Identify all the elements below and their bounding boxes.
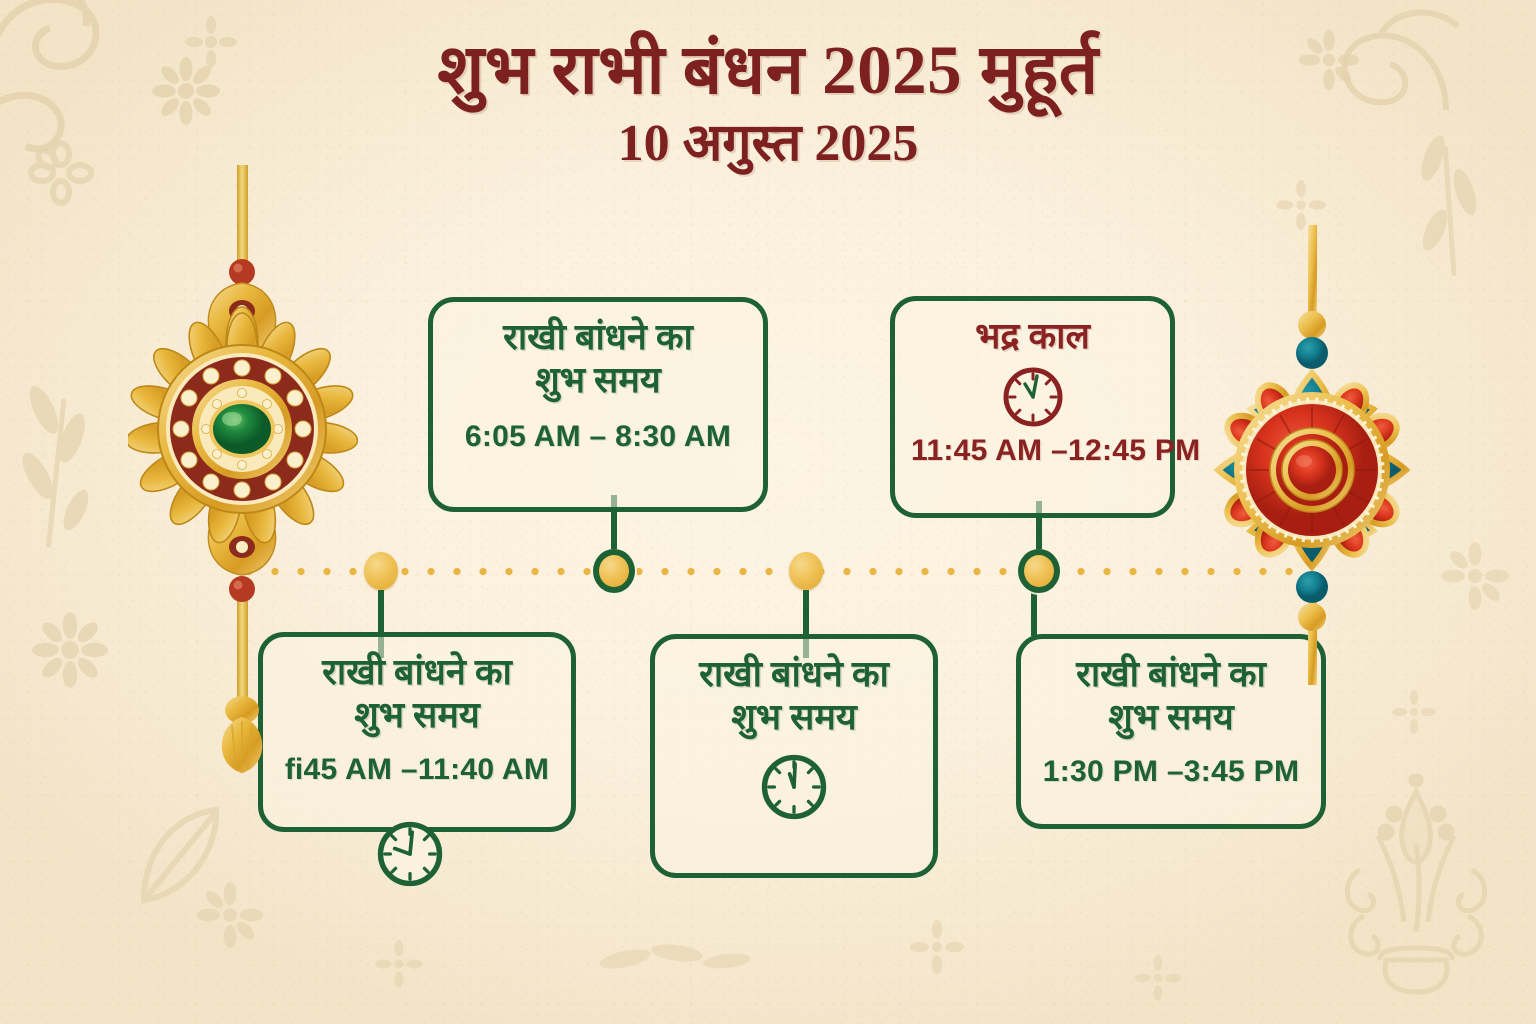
small-flower-motif — [375, 940, 423, 988]
flower-motif — [195, 880, 265, 950]
card-time: 11:45 AM –12:45 PM — [911, 434, 1154, 468]
timeline — [236, 564, 1300, 577]
node-dot — [593, 549, 635, 593]
leaf-motif — [120, 790, 240, 920]
title-block: शुभ राभी बंधन 2025 मुहूर्त 10 अगुस्त 202… — [0, 34, 1536, 172]
diya-kalash-motif — [1316, 774, 1516, 1014]
clock-icon — [758, 751, 830, 823]
card-time: 6:05 AM – 8:30 AM — [449, 420, 747, 454]
flower-motif — [30, 610, 110, 690]
small-flower-motif — [1392, 690, 1436, 734]
node-dot — [789, 552, 823, 590]
node-dot — [1018, 549, 1060, 593]
page-subtitle: 10 अगुस्त 2025 — [0, 115, 1536, 172]
clock-icon — [374, 818, 446, 890]
small-flower-motif — [910, 920, 964, 974]
clock-icon — [1000, 364, 1066, 430]
card-title: राखी बांधने का शुभ समय — [671, 653, 917, 739]
small-flower-motif — [1276, 180, 1326, 230]
muhurat-card-bhadra-kaal[interactable]: भद्र काल 11:45 AM –12:45 PM — [890, 296, 1175, 518]
left-rakhi-ornament — [128, 165, 358, 780]
card-time: 1:30 PM –3:45 PM — [1037, 755, 1305, 789]
leaf-sprig-motif — [585, 925, 765, 995]
muhurat-card-bottom-2[interactable]: राखी बांधने का शुभ समय — [650, 634, 938, 878]
timeline-node-1[interactable] — [364, 552, 398, 590]
node-dot — [364, 552, 398, 590]
card-title: राखी बांधने का शुभ समय — [449, 316, 747, 402]
rakhi-muhurat-poster: शुभ राभी बंधन 2025 मुहूर्त 10 अगुस्त 202… — [0, 0, 1536, 1024]
page-title: शुभ राभी बंधन 2025 मुहूर्त — [0, 34, 1536, 107]
right-rakhi-ornament — [1188, 225, 1438, 690]
small-flower-motif — [1135, 955, 1181, 1001]
timeline-node-3[interactable] — [789, 552, 823, 590]
flower-motif — [1439, 540, 1511, 612]
timeline-node-2[interactable] — [593, 549, 635, 593]
leaf-sprig-motif — [10, 380, 120, 580]
muhurat-card-top-1[interactable]: राखी बांधने का शुभ समय 6:05 AM – 8:30 AM — [428, 297, 768, 512]
timeline-node-4[interactable] — [1018, 549, 1060, 593]
card-title: भद्र काल — [911, 315, 1154, 358]
